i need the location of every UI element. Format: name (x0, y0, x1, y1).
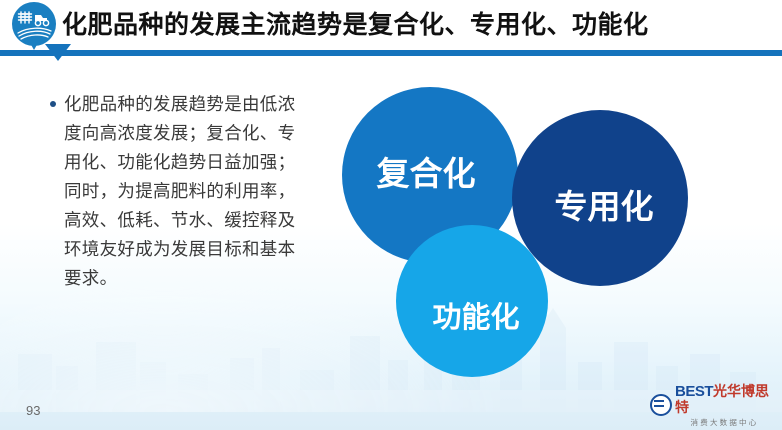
circle-label-fuhehua: 复合化 (377, 147, 476, 195)
best-mark-icon (650, 394, 672, 416)
slide-header: 化肥品种的发展主流趋势是复合化、专用化、功能化 (0, 0, 782, 50)
farm-pin-icon (10, 2, 58, 50)
header-divider-bar (0, 50, 782, 56)
circle-gongnenghua[interactable]: 功能化 (396, 225, 548, 377)
brand-name-en: BEST (675, 383, 713, 400)
circle-label-gongnenghua: 功能化 (432, 294, 519, 336)
body-copy-block: 化肥品种的发展趋势是由低浓度向高浓度发展；复合化、专用化、功能化趋势日益加强；同… (50, 90, 310, 293)
bullet-item-text: 化肥品种的发展趋势是由低浓度向高浓度发展；复合化、专用化、功能化趋势日益加强；同… (64, 90, 310, 293)
slide-canvas: 化肥品种的发展主流趋势是复合化、专用化、功能化 化肥品种的发展趋势是由低浓度向高… (0, 0, 782, 430)
brand-logo: BEST光华博思特 消费大数据中心 (650, 388, 774, 422)
concept-circles-diagram: 复合化 专用化 功能化 (330, 75, 690, 375)
circle-label-zhuanyonghua: 专用化 (555, 180, 654, 228)
header-divider-notch (45, 44, 71, 61)
page-number: 93 (26, 403, 40, 418)
brand-subtitle: 消费大数据中心 (675, 419, 774, 427)
pin-artwork-icon (12, 2, 56, 46)
bullet-dot-icon (50, 101, 56, 107)
circle-zhuanyonghua[interactable]: 专用化 (512, 110, 688, 286)
page-title: 化肥品种的发展主流趋势是复合化、专用化、功能化 (62, 4, 649, 46)
bullet-item: 化肥品种的发展趋势是由低浓度向高浓度发展；复合化、专用化、功能化趋势日益加强；同… (50, 90, 310, 293)
brand-text-block: BEST光华博思特 消费大数据中心 (675, 384, 774, 427)
